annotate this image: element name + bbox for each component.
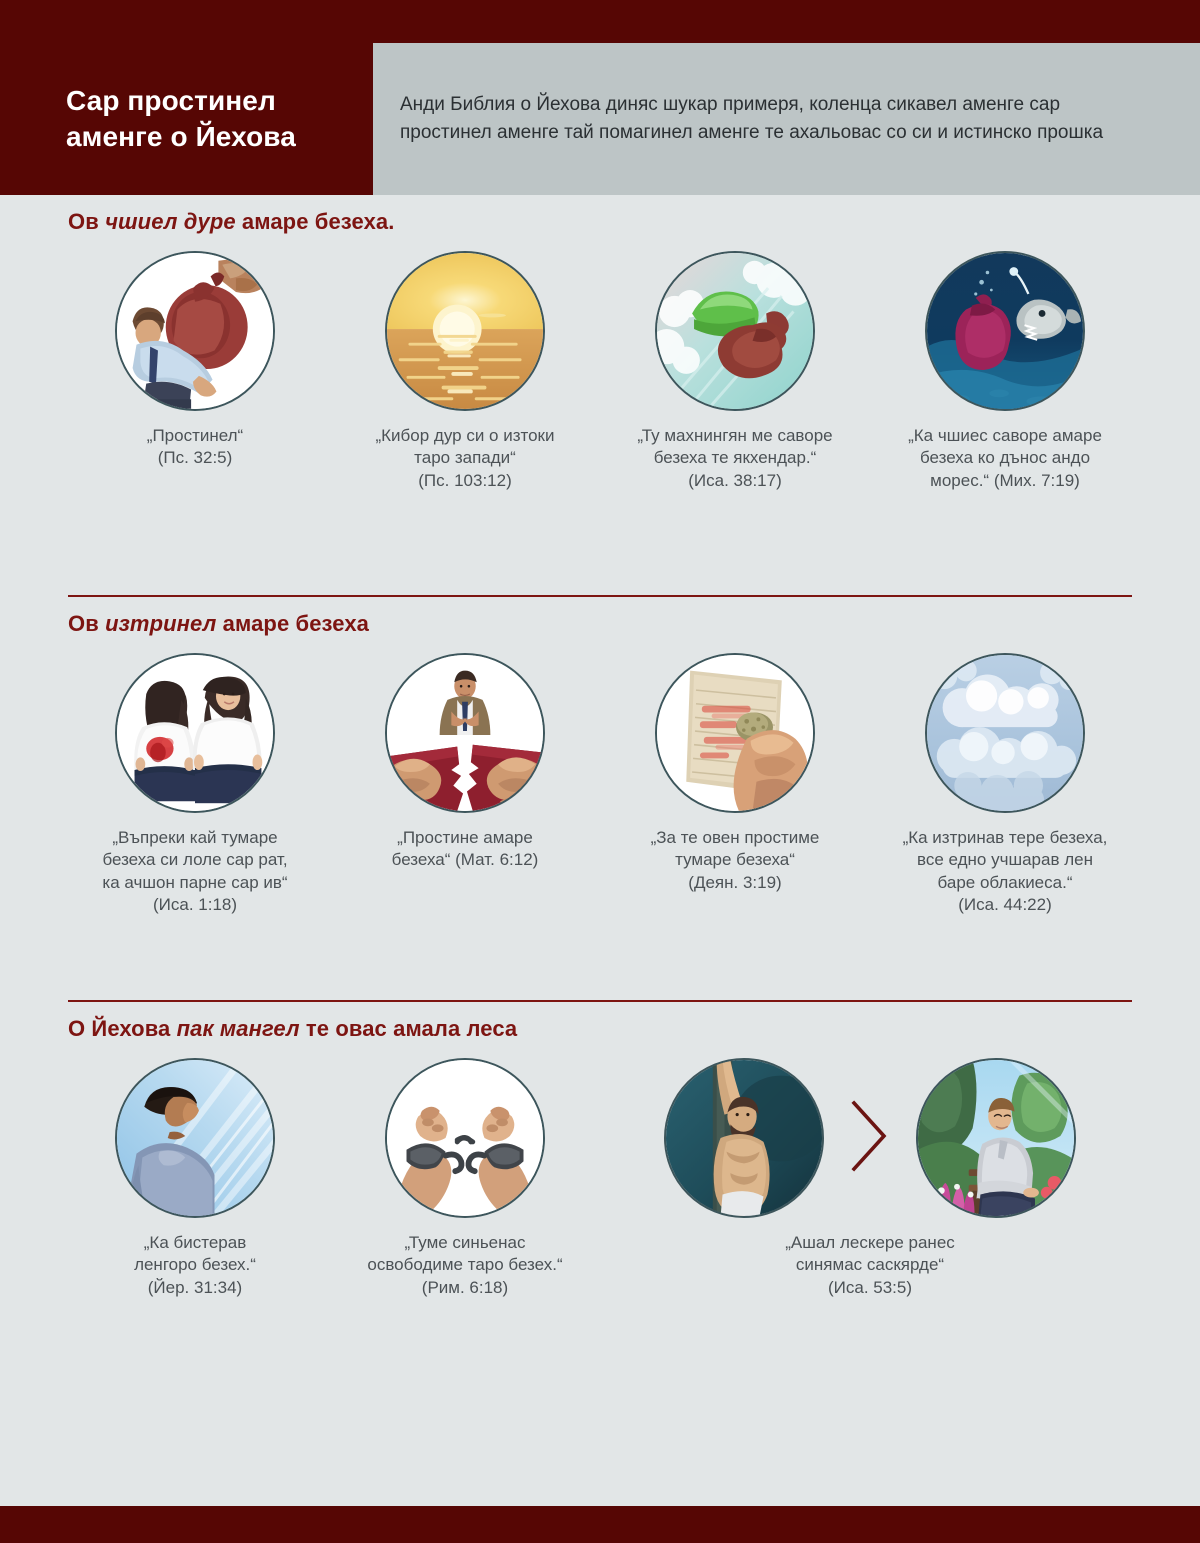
hand-erasing-scroll-icon — [655, 653, 815, 813]
sunrise-over-sea-icon — [385, 251, 545, 411]
card-scarlet-white-isa-1-18: „Въпреки кай тумаре безеха си лоле сар р… — [60, 653, 330, 917]
page-title: Сар простинел аменге о Йехова — [0, 83, 373, 155]
card-freed-rom-6-18: „Туме синьенас освободиме таро безех.“ (… — [330, 1058, 600, 1299]
chevron-right-icon — [850, 1099, 890, 1178]
card-caption: „Въпреки кай тумаре безеха си лоле сар р… — [73, 827, 318, 917]
section-2-heading: Ов изтринел амаре безеха — [0, 597, 1200, 637]
before-after-pair — [664, 1058, 1076, 1218]
card-blotted-out-acts-3-19: „За те овен простиме тумаре безеха“ (Дея… — [600, 653, 870, 917]
section-1-heading: Ов чшиел дуре амаре безеха. — [0, 195, 1200, 235]
man-at-peace-in-garden-icon — [916, 1058, 1076, 1218]
card-sack-in-sea-mic-7-19: „Ка чшиес саворе амаре безеха ко дънос а… — [870, 251, 1140, 492]
section-1-heading-italic: чшиел дуре — [105, 209, 236, 234]
section-2-heading-italic: изтринел — [105, 611, 216, 636]
section-2-heading-pre: Ов — [68, 611, 105, 636]
header: Сар простинел аменге о Йехова Анди Библи… — [0, 43, 1200, 195]
card-sack-behind-isa-38-17: „Ту махнингян ме саворе безеха те якхенд… — [600, 251, 870, 492]
card-caption: „Простине амаре безеха“ (Мат. 6:12) — [343, 827, 588, 872]
card-caption: „Ка изтринав тере безеха, все едно учшар… — [883, 827, 1128, 917]
bottom-accent-bar — [0, 1506, 1200, 1543]
broken-handcuffs-icon — [385, 1058, 545, 1218]
sack-in-deep-sea-icon — [925, 251, 1085, 411]
section-1-cards: „Простинел“ (Пс. 32:5) — [0, 251, 1200, 492]
card-caption: „За те овен простиме тумаре безеха“ (Дея… — [613, 827, 858, 894]
section-jehovah-wants-friendship: О Йехова пак мангел те овас амала леса — [0, 1000, 1200, 1299]
card-caption: „Ашал лескере ранес синямас саскярде“ (И… — [660, 1232, 1080, 1299]
section-1-heading-pre: Ов — [68, 209, 105, 234]
card-caption: „Ту махнингян ме саворе безеха те якхенд… — [613, 425, 858, 492]
section-3-heading-post: те овас амала леса — [300, 1016, 518, 1041]
man-looking-up-to-sky-icon — [115, 1058, 275, 1218]
section-3-heading-italic: пак мангел — [177, 1016, 300, 1041]
section-2-cards: „Въпреки кай тумаре безеха си лоле сар р… — [0, 653, 1200, 917]
header-subtitle-panel: Анди Библия о Йехова диняс шукар примеря… — [373, 43, 1200, 195]
jesus-on-stake-and-man-at-peace-icon — [664, 1058, 824, 1218]
torn-debt-document-icon — [385, 653, 545, 813]
card-simplify-ps-32-5: „Простинел“ (Пс. 32:5) — [60, 251, 330, 492]
stained-and-clean-shirt-icon — [115, 653, 275, 813]
section-he-removes-our-sins: Ов чшиел дуре амаре безеха. — [0, 195, 1200, 492]
man-with-sack-lifted-icon — [115, 251, 275, 411]
card-caption: „Ка бистерав ленгоро безех.“ (Йер. 31:34… — [73, 1232, 318, 1299]
section-3-heading: О Йехова пак мангел те овас амала леса — [0, 1002, 1200, 1042]
card-forgive-debts-mat-6-12: „Простине амаре безеха“ (Мат. 6:12) — [330, 653, 600, 917]
card-caption: „Кибор дур си о изтоки таро запади“ (Пс.… — [343, 425, 588, 492]
card-caption: „Ка чшиес саворе амаре безеха ко дънос а… — [883, 425, 1128, 492]
infographic-page: Сар простинел аменге о Йехова Анди Библи… — [0, 0, 1200, 1543]
card-sunrise-ps-103-12: „Кибор дур си о изтоки таро запади“ (Пс.… — [330, 251, 600, 492]
section-he-erases-our-sins: Ов изтринел амаре безеха — [0, 595, 1200, 917]
page-subtitle: Анди Библия о Йехова диняс шукар примеря… — [373, 91, 1200, 146]
card-caption: „Туме синьенас освободиме таро безех.“ (… — [343, 1232, 588, 1299]
clouds-wiped-away-icon — [925, 653, 1085, 813]
section-1-heading-post: амаре безеха. — [236, 209, 395, 234]
section-3-cards: „Ка бистерав ленгоро безех.“ (Йер. 31:34… — [0, 1058, 1200, 1299]
card-clouds-isa-44-22: „Ка изтринав тере безеха, все едно учшар… — [870, 653, 1140, 917]
sack-thrown-behind-back-icon — [655, 251, 815, 411]
section-3-heading-pre: О Йехова — [68, 1016, 177, 1041]
section-2-heading-post: амаре безеха — [216, 611, 369, 636]
header-title-panel: Сар простинел аменге о Йехова — [0, 43, 373, 195]
card-caption: „Простинел“ (Пс. 32:5) — [73, 425, 318, 470]
card-healed-isa-53-5: „Ашал лескере ранес синямас саскярде“ (И… — [600, 1058, 1140, 1299]
card-forget-jer-31-34: „Ка бистерав ленгоро безех.“ (Йер. 31:34… — [60, 1058, 330, 1299]
top-accent-bar — [0, 0, 1200, 43]
